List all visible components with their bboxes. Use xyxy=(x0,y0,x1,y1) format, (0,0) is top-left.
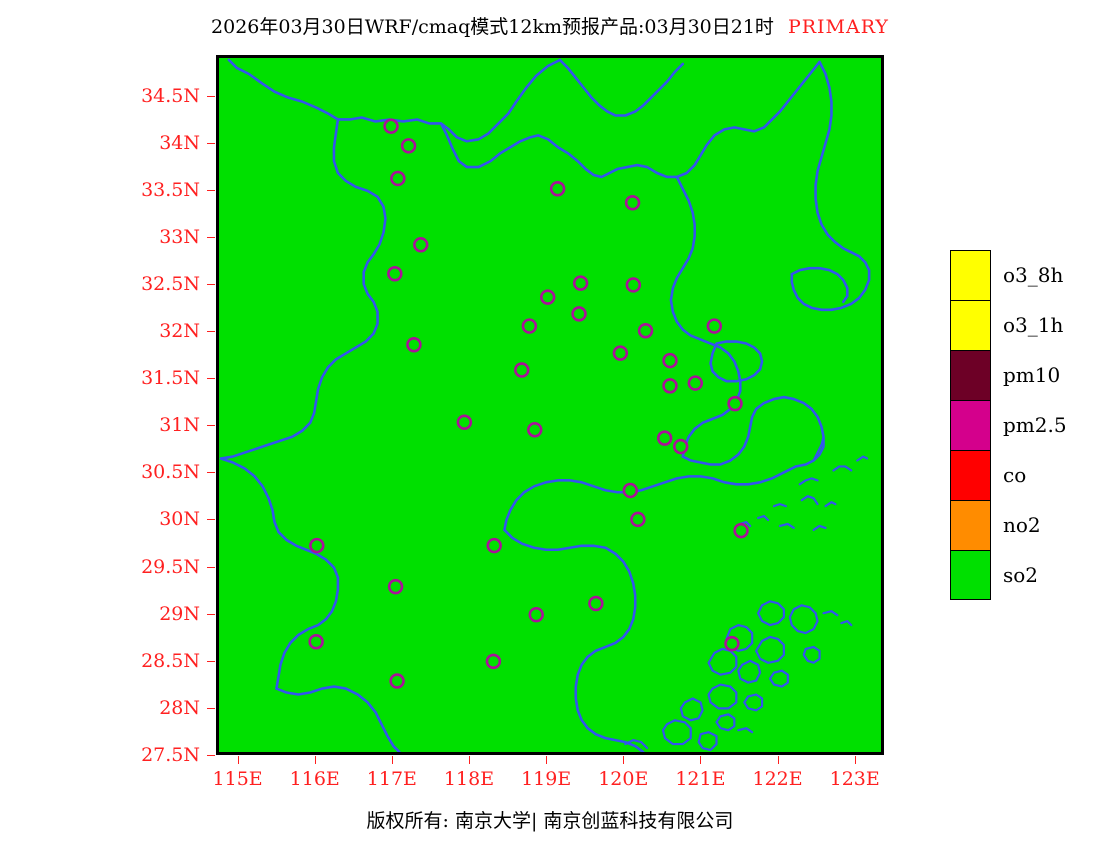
map-frame[interactable] xyxy=(216,55,884,755)
station-markers-layer xyxy=(310,120,748,688)
station-marker[interactable] xyxy=(402,139,415,152)
x-axis-tick xyxy=(623,756,624,764)
station-marker[interactable] xyxy=(658,432,671,445)
y-axis-label: 32N xyxy=(120,320,200,342)
station-marker[interactable] xyxy=(530,608,543,621)
legend-item-o3-1h[interactable]: o3_1h xyxy=(950,300,1100,350)
station-marker[interactable] xyxy=(624,484,637,497)
y-axis-label: 31.5N xyxy=(120,367,200,389)
station-marker[interactable] xyxy=(639,324,652,337)
station-marker[interactable] xyxy=(391,172,404,185)
station-marker[interactable] xyxy=(664,354,677,367)
station-marker[interactable] xyxy=(614,347,627,360)
station-marker[interactable] xyxy=(458,416,471,429)
station-marker[interactable] xyxy=(523,320,536,333)
y-axis-tick xyxy=(207,519,215,520)
station-marker[interactable] xyxy=(631,513,644,526)
title-main-text: 2026年03月30日WRF/cmaq模式12km预报产品:03月30日21时 xyxy=(211,16,774,38)
y-axis-label: 34N xyxy=(120,132,200,154)
x-axis-tick xyxy=(469,756,470,764)
y-axis-label: 30.5N xyxy=(120,461,200,483)
legend-color-swatch xyxy=(950,450,991,500)
station-marker[interactable] xyxy=(689,377,702,390)
station-marker[interactable] xyxy=(528,423,541,436)
station-marker[interactable] xyxy=(726,637,739,650)
station-marker[interactable] xyxy=(310,539,323,552)
station-marker[interactable] xyxy=(487,655,500,668)
x-axis-tick xyxy=(546,756,547,764)
legend-item-so2[interactable]: so2 xyxy=(950,550,1100,600)
y-axis-tick xyxy=(207,708,215,709)
station-marker[interactable] xyxy=(626,196,639,209)
y-axis-tick xyxy=(207,755,215,756)
legend-item-co[interactable]: co xyxy=(950,450,1100,500)
y-axis-tick xyxy=(207,425,215,426)
y-axis-label: 33.5N xyxy=(120,179,200,201)
y-axis-label: 28N xyxy=(120,697,200,719)
page-title: 2026年03月30日WRF/cmaq模式12km预报产品:03月30日21时P… xyxy=(0,12,1100,39)
x-axis-tick xyxy=(238,756,239,764)
x-axis-label: 122E xyxy=(752,768,802,790)
legend-label: o3_1h xyxy=(1003,313,1063,337)
y-axis-label: 30N xyxy=(120,508,200,530)
y-axis-tick xyxy=(207,237,215,238)
legend-color-swatch xyxy=(950,500,991,550)
legend-color-swatch xyxy=(950,350,991,400)
station-marker[interactable] xyxy=(708,320,721,333)
station-marker[interactable] xyxy=(664,379,677,392)
title-primary-badge: PRIMARY xyxy=(788,16,889,38)
y-axis-label: 31N xyxy=(120,414,200,436)
station-marker[interactable] xyxy=(385,120,398,133)
legend-color-swatch xyxy=(950,550,991,600)
y-axis-tick xyxy=(207,190,215,191)
station-marker[interactable] xyxy=(551,182,564,195)
x-axis-tick xyxy=(778,756,779,764)
legend-item-no2[interactable]: no2 xyxy=(950,500,1100,550)
legend-label: no2 xyxy=(1003,513,1041,537)
y-axis-label: 32.5N xyxy=(120,273,200,295)
legend-label: pm2.5 xyxy=(1003,413,1067,437)
legend-label: co xyxy=(1003,463,1026,487)
y-axis-tick xyxy=(207,143,215,144)
map-plot-area: 34.5N34N33.5N33N32.5N32N31.5N31N30.5N30N… xyxy=(216,55,884,755)
station-marker[interactable] xyxy=(389,580,402,593)
station-marker[interactable] xyxy=(391,675,404,688)
legend-color-swatch xyxy=(950,250,991,300)
legend-color-swatch xyxy=(950,300,991,350)
legend-item-pm2-5[interactable]: pm2.5 xyxy=(950,400,1100,450)
station-marker[interactable] xyxy=(573,307,586,320)
station-marker[interactable] xyxy=(515,364,528,377)
y-axis-label: 28.5N xyxy=(120,650,200,672)
x-axis-label: 120E xyxy=(598,768,648,790)
station-marker[interactable] xyxy=(589,597,602,610)
x-axis-label: 116E xyxy=(290,768,340,790)
x-axis-label: 121E xyxy=(675,768,725,790)
y-axis-label: 29.5N xyxy=(120,556,200,578)
legend: o3_8ho3_1hpm10pm2.5cono2so2 xyxy=(950,250,1100,602)
y-axis-label: 34.5N xyxy=(120,85,200,107)
station-marker[interactable] xyxy=(310,635,323,648)
station-marker[interactable] xyxy=(574,277,587,290)
x-axis-label: 123E xyxy=(830,768,880,790)
x-axis-label: 118E xyxy=(444,768,494,790)
x-axis-tick xyxy=(392,756,393,764)
x-axis-label: 119E xyxy=(521,768,571,790)
station-marker[interactable] xyxy=(729,397,742,410)
y-axis-tick xyxy=(207,96,215,97)
station-marker[interactable] xyxy=(488,539,501,552)
legend-item-pm10[interactable]: pm10 xyxy=(950,350,1100,400)
y-axis-label: 33N xyxy=(120,226,200,248)
station-marker[interactable] xyxy=(414,238,427,251)
x-axis-tick xyxy=(855,756,856,764)
y-axis-tick xyxy=(207,661,215,662)
y-axis-label: 27.5N xyxy=(120,744,200,766)
station-marker[interactable] xyxy=(541,291,554,304)
y-axis-tick xyxy=(207,567,215,568)
station-marker[interactable] xyxy=(407,338,420,351)
station-marker[interactable] xyxy=(627,278,640,291)
legend-label: o3_8h xyxy=(1003,263,1063,287)
legend-label: so2 xyxy=(1003,563,1038,587)
legend-item-o3-8h[interactable]: o3_8h xyxy=(950,250,1100,300)
map-canvas xyxy=(219,58,881,752)
x-axis-tick xyxy=(315,756,316,764)
y-axis-tick xyxy=(207,472,215,473)
footer-copyright: 版权所有: 南京大学| 南京创蓝科技有限公司 xyxy=(0,806,1100,833)
x-axis-label: 115E xyxy=(213,768,263,790)
station-marker[interactable] xyxy=(388,267,401,280)
y-axis-label: 29N xyxy=(120,603,200,625)
y-axis-tick xyxy=(207,331,215,332)
x-axis-label: 117E xyxy=(367,768,417,790)
legend-color-swatch xyxy=(950,400,991,450)
y-axis-tick xyxy=(207,284,215,285)
y-axis-tick xyxy=(207,614,215,615)
y-axis-tick xyxy=(207,378,215,379)
x-axis-tick xyxy=(700,756,701,764)
station-marker[interactable] xyxy=(735,524,748,537)
legend-label: pm10 xyxy=(1003,363,1060,387)
station-marker[interactable] xyxy=(674,440,687,453)
